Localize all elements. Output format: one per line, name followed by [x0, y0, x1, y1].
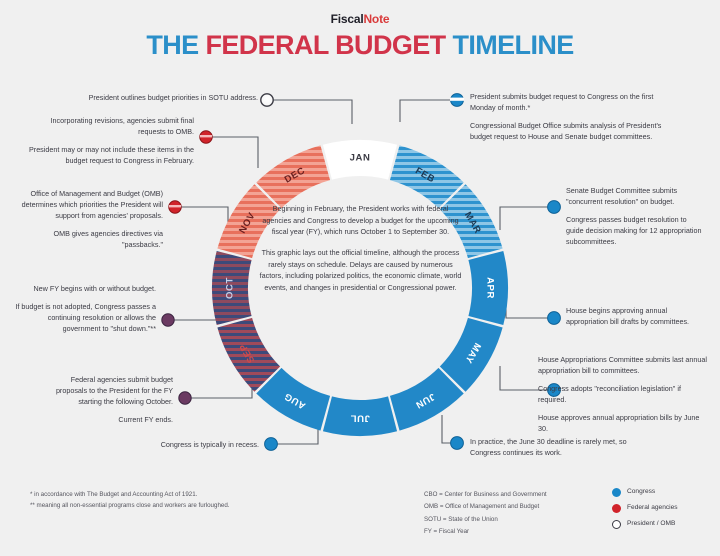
legend-dot-agencies-icon — [612, 504, 621, 513]
annotation-budget-request-line-2: Congressional Budget Office submits anal… — [470, 121, 662, 143]
marker-agencies-dec-band — [200, 135, 212, 137]
annotation-omb-passbacks-line-1: Office of Management and Budget (OMB) de… — [12, 189, 163, 222]
infographic-canvas: FiscalNote THE FEDERAL BUDGET TIMELINE — [0, 0, 720, 556]
annotation-sotu-line-1: President outlines budget priorities in … — [30, 93, 258, 104]
annotation-omb-passbacks-line-2: OMB gives agencies directives via "passb… — [12, 229, 163, 251]
annotation-concurrent-resolution: Senate Budget Committee submits "concurr… — [566, 186, 702, 248]
month-label-oct: OCT — [225, 277, 236, 299]
legend-item-president: President / OMB — [612, 520, 678, 529]
color-legend: Congress Federal agencies President / OM… — [612, 488, 678, 536]
marker-mixed-agency-proposals[interactable] — [179, 392, 191, 404]
annotation-budget-request-line-1: President submits budget request to Cong… — [470, 92, 662, 114]
footnote-1: * in accordance with The Budget and Acco… — [30, 489, 229, 500]
center-paragraph-2: This graphic lays out the official timel… — [258, 247, 463, 294]
annotation-agency-proposals-line-2: Current FY ends. — [38, 415, 173, 426]
month-label-jul: JUL — [350, 413, 370, 424]
annotation-agency-proposals: Federal agencies submit budget proposals… — [38, 375, 173, 426]
annotation-concurrent-resolution-line-1: Senate Budget Committee submits "concurr… — [566, 186, 702, 208]
legend-item-congress: Congress — [612, 488, 678, 497]
annotation-house-approves-line-2: Congress adopts "reconciliation legislat… — [538, 384, 710, 406]
marker-president-sotu[interactable] — [261, 94, 273, 106]
legend-label-agencies: Federal agencies — [627, 505, 678, 512]
annotation-deadline-missed: In practice, the June 30 deadline is rar… — [470, 437, 645, 459]
annotation-dec-agencies-line-1: Incorporating revisions, agencies submit… — [26, 116, 194, 138]
legend-label-congress: Congress — [627, 489, 655, 496]
marker-congress-house-drafts[interactable] — [548, 312, 561, 325]
annotation-house-approves-line-3: House approves annual appropriation bill… — [538, 413, 710, 435]
abbreviation-fy: FY = Fiscal Year — [424, 526, 547, 538]
marker-congress-concurrent-resolution[interactable] — [548, 201, 561, 214]
annotation-budget-request: President submits budget request to Cong… — [470, 92, 662, 143]
annotation-house-approves-line-1: House Appropriations Committee submits l… — [538, 355, 710, 377]
marker-agencies-omb-band — [169, 205, 181, 207]
legend-item-agencies: Federal agencies — [612, 504, 678, 513]
marker-budget-request-band — [450, 98, 464, 101]
annotation-dec-agencies: Incorporating revisions, agencies submit… — [26, 116, 194, 167]
marker-mixed-new-fy[interactable] — [162, 314, 174, 326]
annotation-recess-line-1: Congress is typically in recess. — [100, 440, 259, 451]
legend-dot-president-icon — [612, 520, 621, 529]
legend-dot-congress-icon — [612, 488, 621, 497]
annotation-new-fy: New FY begins with or without budget. If… — [12, 284, 156, 335]
annotation-new-fy-line-2: If budget is not adopted, Congress passe… — [12, 302, 156, 335]
abbreviation-key: CBO = Center for Business and Government… — [424, 489, 547, 539]
center-description: Beginning in February, the President wor… — [258, 203, 463, 294]
footnote-2: ** meaning all non-essential programs cl… — [30, 500, 229, 511]
marker-congress-recess[interactable] — [265, 438, 278, 451]
annotation-dec-agencies-line-2: President may or may not include these i… — [26, 145, 194, 167]
annotation-deadline-missed-line-1: In practice, the June 30 deadline is rar… — [470, 437, 645, 459]
center-paragraph-1: Beginning in February, the President wor… — [258, 203, 463, 238]
annotation-new-fy-line-1: New FY begins with or without budget. — [12, 284, 156, 295]
annotation-omb-passbacks: Office of Management and Budget (OMB) de… — [12, 189, 163, 251]
footnotes: * in accordance with The Budget and Acco… — [30, 489, 229, 511]
abbreviation-cbo: CBO = Center for Business and Government — [424, 489, 547, 501]
annotation-concurrent-resolution-line-2: Congress passes budget resolution to gui… — [566, 215, 702, 248]
annotation-agency-proposals-line-1: Federal agencies submit budget proposals… — [38, 375, 173, 408]
annotation-house-drafts: House begins approving annual appropriat… — [566, 306, 702, 328]
marker-congress-deadline[interactable] — [451, 437, 464, 450]
legend-label-president: President / OMB — [627, 521, 675, 528]
month-label-jan: JAN — [350, 153, 371, 164]
annotation-sotu: President outlines budget priorities in … — [30, 93, 258, 104]
annotation-recess: Congress is typically in recess. — [100, 440, 259, 451]
annotation-house-drafts-line-1: House begins approving annual appropriat… — [566, 306, 702, 328]
abbreviation-omb: OMB = Office of Management and Budget — [424, 501, 547, 513]
annotation-house-approves: House Appropriations Committee submits l… — [538, 355, 710, 435]
month-label-apr: APR — [485, 277, 496, 299]
abbreviation-sotu: SOTU = State of the Union — [424, 514, 547, 526]
